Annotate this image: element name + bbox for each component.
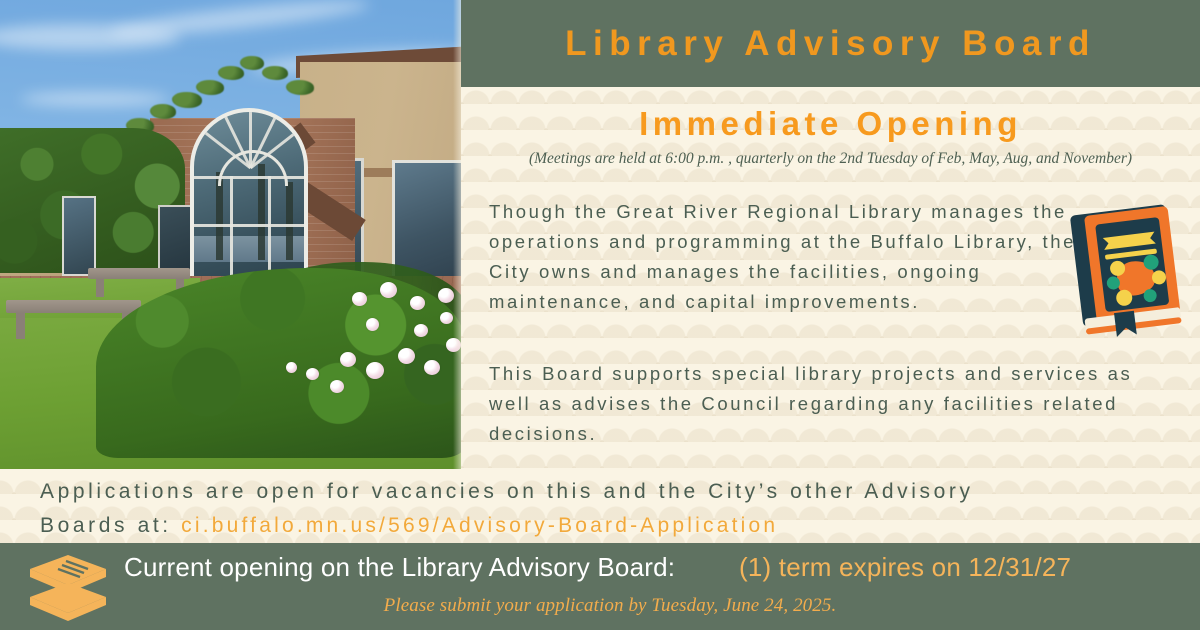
header-band: Library Advisory Board xyxy=(461,0,1200,87)
photo-window-mullion xyxy=(268,176,271,284)
photo-window-mullion xyxy=(194,176,304,179)
photo-peony-bloom xyxy=(438,288,454,303)
poster-canvas: Library Advisory Board Immediate Opening… xyxy=(0,0,1200,630)
buffalo-library-exterior-photo xyxy=(0,0,461,469)
photo-roof-vine xyxy=(196,80,224,95)
photo-roof-vine xyxy=(240,56,264,70)
photo-cloud xyxy=(20,92,170,106)
photo-peony-bloom xyxy=(352,292,367,306)
photo-roof-vine xyxy=(262,66,288,80)
main-content: Immediate Opening (Meetings are held at … xyxy=(461,87,1200,469)
applications-block: Applications are open for vacancies on t… xyxy=(0,469,1200,543)
photo-roof-vine xyxy=(172,92,202,108)
photo-peony-bloom xyxy=(366,318,379,331)
photo-peony-bloom xyxy=(306,368,319,380)
paragraph-one: Though the Great River Regional Library … xyxy=(489,197,1114,317)
page-title: Library Advisory Board xyxy=(565,24,1096,64)
photo-peony-bloom xyxy=(424,360,440,375)
paragraph-two: This Board supports special library proj… xyxy=(489,359,1164,449)
photo-peony-bloom xyxy=(398,348,415,364)
open-book-illustration xyxy=(1065,199,1192,344)
applications-prefix: Boards at: xyxy=(40,514,181,537)
term-expiry-text: (1) term expires on 12/31/27 xyxy=(739,552,1071,583)
photo-roof-vine xyxy=(150,104,176,119)
photo-window-inner-arch xyxy=(218,150,288,186)
photo-peony-bloom xyxy=(340,352,356,367)
photo-roof-vine xyxy=(218,66,244,80)
photo-right-edge-fade xyxy=(453,0,461,469)
photo-window-tree-reflection xyxy=(286,182,293,260)
photo-peony-bloom xyxy=(414,324,428,337)
photo-left-window xyxy=(62,196,96,276)
applications-line-two: Boards at: ci.buffalo.mn.us/569/Advisory… xyxy=(40,509,1200,543)
photo-peony-bloom xyxy=(380,282,397,298)
subheading: Immediate Opening xyxy=(461,105,1200,143)
photo-arched-feature-window xyxy=(190,108,308,288)
photo-window-mullion xyxy=(230,176,233,284)
current-opening-label: Current opening on the Library Advisory … xyxy=(124,552,675,583)
photo-peony-bloom xyxy=(286,362,297,373)
photo-bench-leg xyxy=(96,279,104,297)
footer-secondary-row: Please submit your application by Tuesda… xyxy=(0,595,1200,617)
application-deadline-note: Please submit your application by Tuesda… xyxy=(364,595,837,616)
photo-bench-leg xyxy=(16,313,25,339)
photo-peony-bloom xyxy=(330,380,344,393)
applications-line-one: Applications are open for vacancies on t… xyxy=(40,475,1200,509)
photo-bench xyxy=(6,300,141,313)
photo-window-mullion xyxy=(249,110,252,168)
photo-peony-bloom xyxy=(366,362,384,379)
photo-wing-window xyxy=(392,160,461,280)
photo-roof-vine xyxy=(286,80,314,95)
footer-primary-row: Current opening on the Library Advisory … xyxy=(124,552,1184,586)
photo-peony-bloom xyxy=(440,312,453,324)
photo-peony-bloom xyxy=(410,296,425,310)
photo-window-mullion xyxy=(194,224,304,227)
application-url-link[interactable]: ci.buffalo.mn.us/569/Advisory-Board-Appl… xyxy=(181,514,778,537)
photo-bench xyxy=(88,268,190,279)
meetings-note: (Meetings are held at 6:00 p.m. , quarte… xyxy=(461,150,1200,168)
